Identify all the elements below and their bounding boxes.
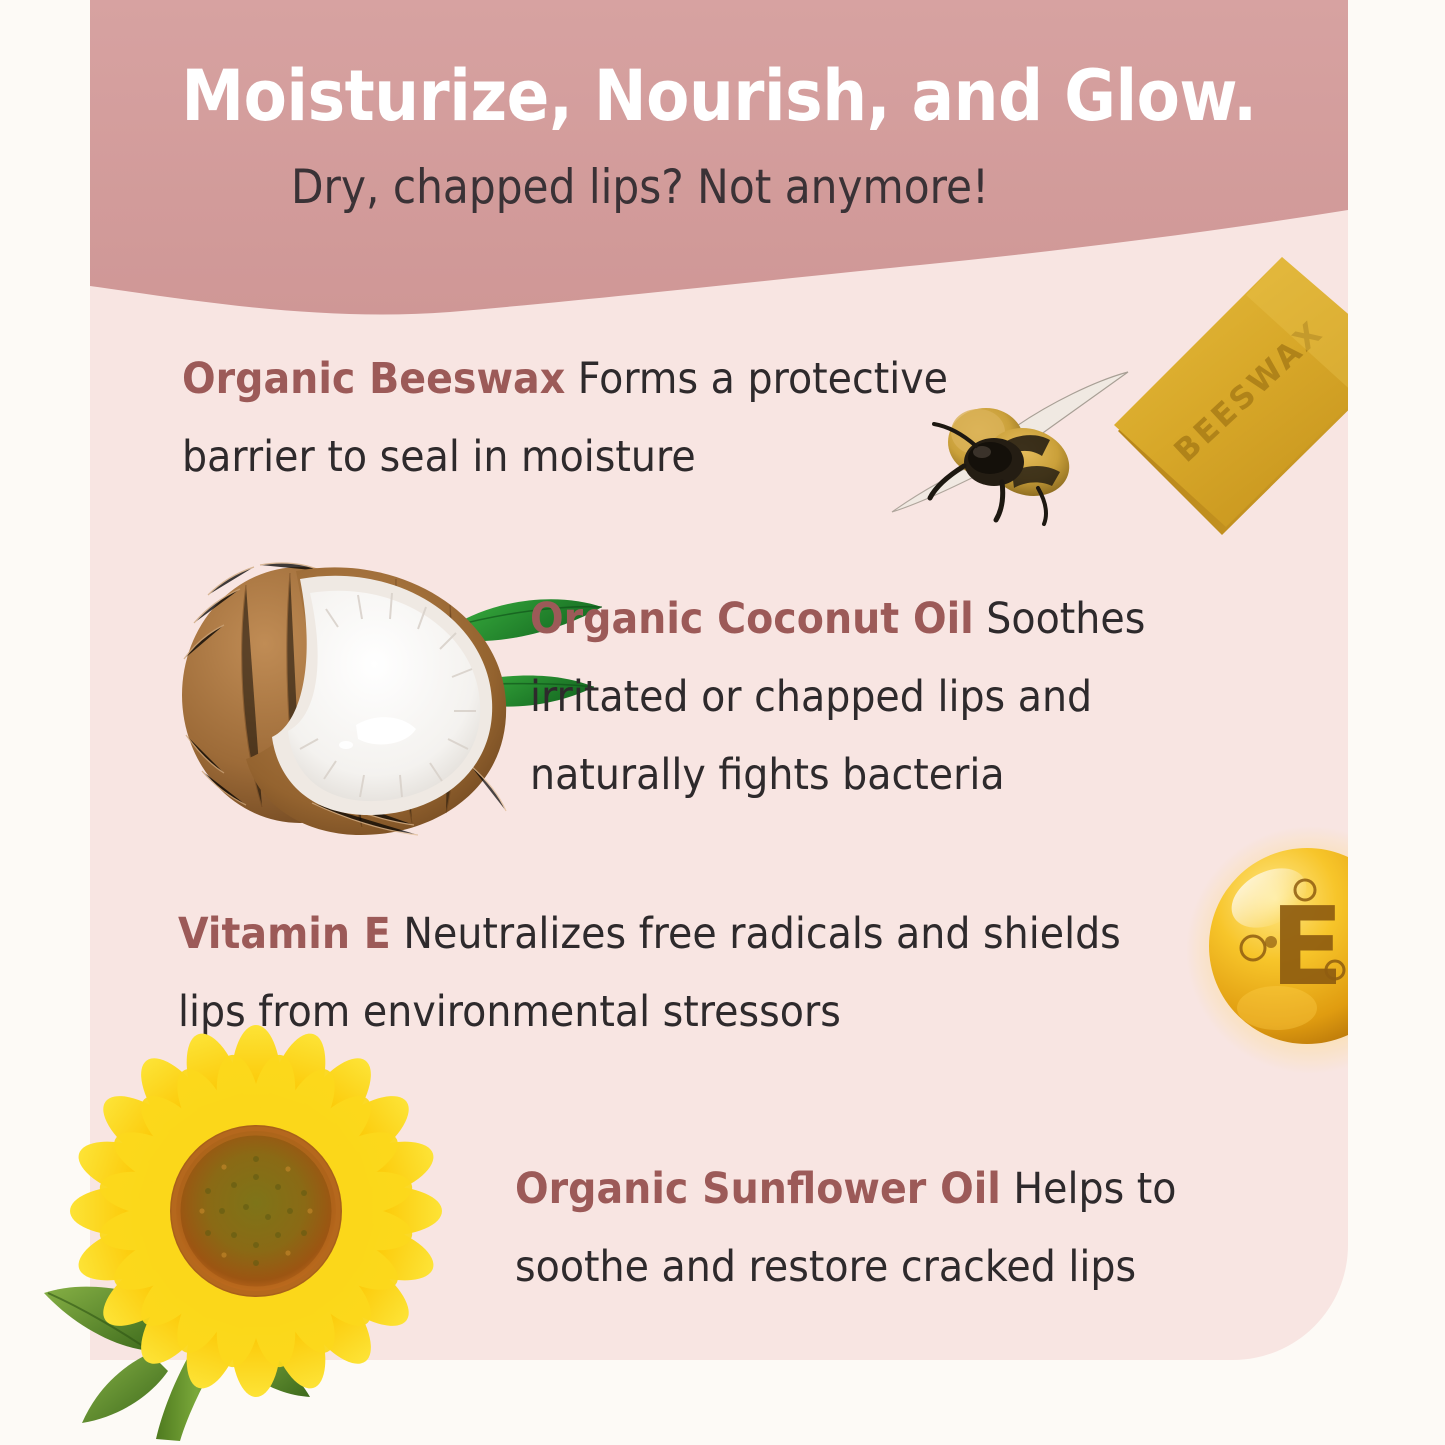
benefit-item-sunflower: Organic Sunflower Oil Helps to soothe an… <box>515 1150 1251 1306</box>
sunflower-icon <box>38 1035 468 1445</box>
infographic-poster: Moisturize, Nourish, and Glow. Dry, chap… <box>0 0 1445 1445</box>
page-title: Moisturize, Nourish, and Glow. <box>153 55 1285 137</box>
vitamin-e-capsule-icon: E <box>1185 832 1348 1067</box>
benefit-term-beeswax: Organic Beeswax <box>182 354 565 404</box>
benefit-item-coconut: Organic Coconut Oil Soothes irritated or… <box>530 580 1229 814</box>
benefit-term-vitamin-e: Vitamin E <box>178 909 391 959</box>
sunflower-center <box>170 1125 342 1297</box>
page-subtitle: Dry, chapped lips? Not anymore! <box>145 160 1135 215</box>
benefit-term-sunflower: Organic Sunflower Oil <box>515 1164 1001 1214</box>
coconut-flesh <box>272 576 492 815</box>
header-text-layer: Moisturize, Nourish, and Glow. Dry, chap… <box>90 0 1348 330</box>
benefit-item-vitamin-e: Vitamin E Neutralizes free radicals and … <box>178 895 1126 1051</box>
benefit-item-beeswax: Organic Beeswax Forms a protective barri… <box>182 340 1065 496</box>
vitamin-e-letter: E <box>1270 885 1344 1010</box>
benefit-term-coconut: Organic Coconut Oil <box>530 594 974 644</box>
